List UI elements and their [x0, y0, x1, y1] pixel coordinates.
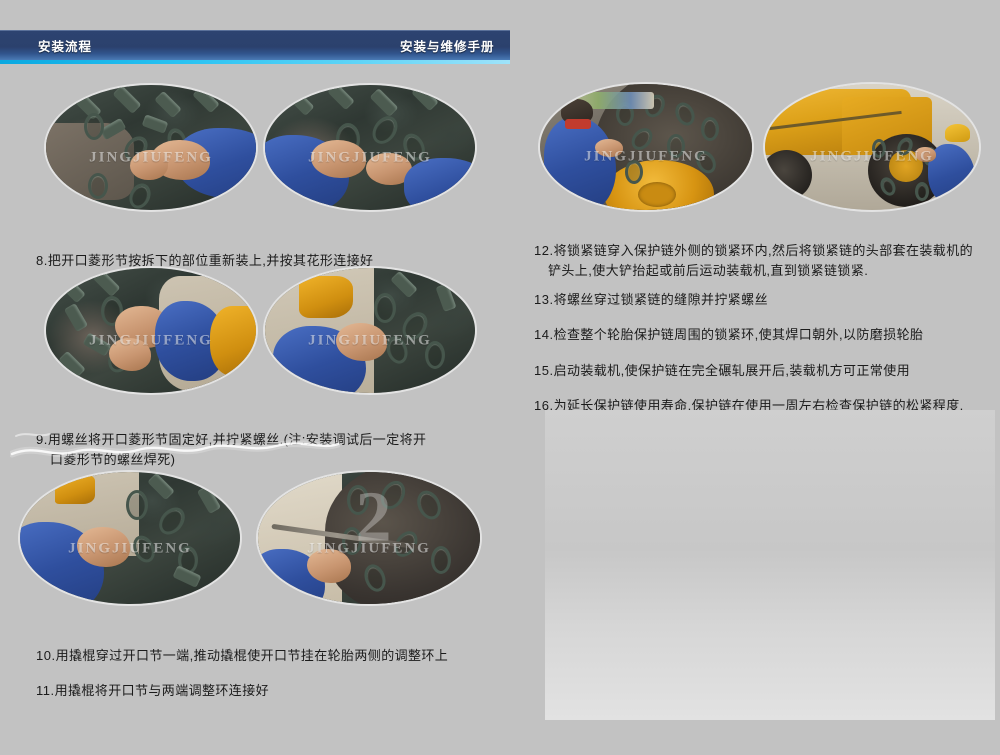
loader-photo-background — [545, 410, 995, 720]
step-14: 14.检查整个轮胎保护链周围的锁紧环,使其焊口朝外,以防磨损轮胎 — [534, 305, 994, 345]
step-8: 8.把开口菱形节按拆下的部位重新装上,并按其花形连接好 — [36, 231, 476, 271]
header-section-title: 安装流程 — [38, 36, 92, 55]
header-manual-title: 安装与维修手册 — [400, 36, 495, 55]
photo-l4: JINGJIUFENG — [265, 268, 475, 393]
step-12-text: 将锁紧链穿入保护链外侧的锁紧环内,然后将锁紧链的头部套在装载机的 — [554, 243, 973, 258]
photo-r2: JINGJIUFENG — [765, 84, 979, 210]
step-12-number: 12. — [534, 243, 554, 258]
photo-l6: 2 JINGJIUFENG — [258, 472, 480, 604]
step-11-number: 11. — [36, 683, 55, 698]
photo-r1: JINGJIUFENG — [540, 84, 752, 210]
step-13: 13.将螺丝穿过锁紧链的缝隙并拧紧螺丝 — [534, 270, 994, 310]
loader-front-view-photo — [545, 410, 995, 720]
step-11: 11.用撬棍将开口节与两端调整环连接好 — [36, 661, 486, 701]
step-8-number: 8. — [36, 253, 48, 268]
step-14-number: 14. — [534, 327, 554, 342]
step-8-text: 把开口菱形节按拆下的部位重新装上,并按其花形连接好 — [48, 253, 374, 268]
step-9-text: 用螺丝将开口菱形节固定好,并拧紧螺丝.(注:安装调试后一定将开 — [48, 432, 427, 447]
page-header-bar: 安装流程 安装与维修手册 — [0, 30, 510, 60]
step-9-text-line2: 口菱形节的螺丝焊死) — [36, 450, 476, 470]
step-9-number: 9. — [36, 432, 48, 447]
step-10: 10.用撬棍穿过开口节一端,推动撬棍使开口节挂在轮胎两侧的调整环上 — [36, 626, 486, 666]
manual-page: 安装流程 安装与维修手册 JINGJIUFENG — [0, 0, 1000, 755]
step-15: 15.启动装载机,使保护链在完全碾轧展开后,装载机方可正常使用 — [534, 341, 994, 381]
header-accent-underline — [0, 60, 510, 64]
photo-l3: JINGJIUFENG — [46, 268, 256, 393]
photo-l1: JINGJIUFENG — [46, 85, 256, 210]
photo-l5: JINGJIUFENG — [20, 472, 240, 604]
step-14-text: 检查整个轮胎保护链周围的锁紧环,使其焊口朝外,以防磨损轮胎 — [554, 327, 924, 342]
step-11-text: 用撬棍将开口节与两端调整环连接好 — [55, 683, 269, 698]
photo-l2: JINGJIUFENG — [265, 85, 475, 210]
